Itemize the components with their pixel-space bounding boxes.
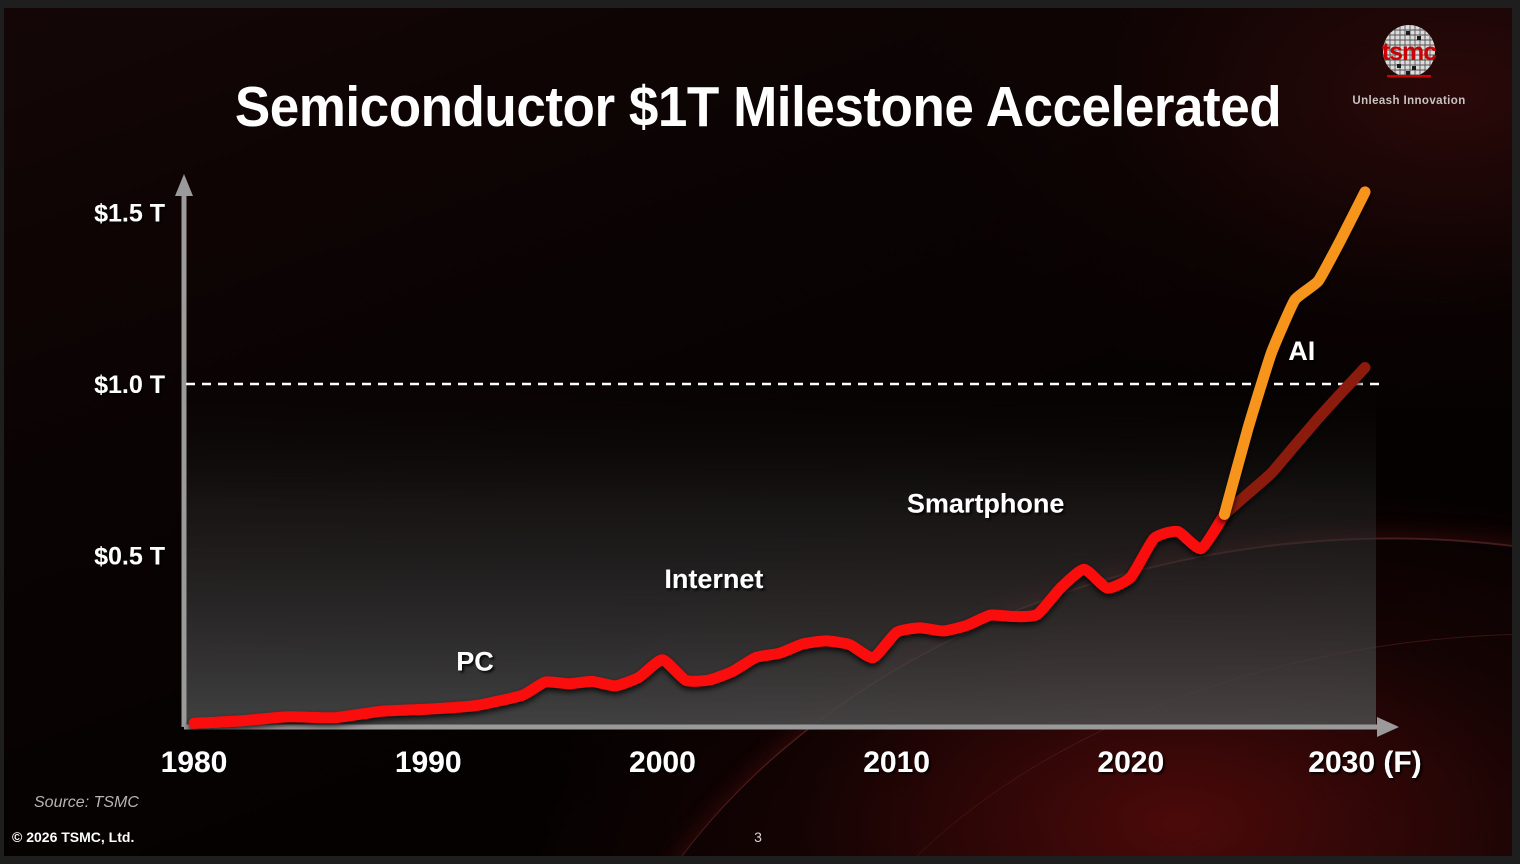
x-tick-label: 1990 xyxy=(395,746,462,779)
slide-canvas: Semiconductor $1T Milestone Accelerated xyxy=(4,8,1512,856)
y-axis-tick-labels: $0.5 T$1.0 T$1.5 T xyxy=(94,200,165,571)
era-annotation-label: PC xyxy=(456,646,494,676)
era-annotation-label: Smartphone xyxy=(907,489,1065,519)
era-annotation-label: Internet xyxy=(664,564,763,594)
page-number: 3 xyxy=(4,829,1512,845)
y-tick-label: $1.5 T xyxy=(94,200,165,228)
semiconductor-market-chart: $0.5 T$1.0 T$1.5 T 198019902000201020202… xyxy=(4,8,1512,856)
x-tick-label: 2030 (F) xyxy=(1308,746,1421,779)
source-note: Source: TSMC xyxy=(34,794,139,812)
y-tick-label: $0.5 T xyxy=(94,543,165,571)
x-tick-label: 2020 xyxy=(1097,746,1164,779)
x-tick-label: 1980 xyxy=(161,746,228,779)
x-axis-tick-labels: 198019902000201020202030 (F) xyxy=(161,746,1422,779)
era-annotation-label: AI xyxy=(1288,336,1315,366)
x-tick-label: 2000 xyxy=(629,746,696,779)
plot-area-panel xyxy=(186,384,1376,727)
x-tick-label: 2010 xyxy=(863,746,930,779)
y-tick-label: $1.0 T xyxy=(94,371,165,399)
